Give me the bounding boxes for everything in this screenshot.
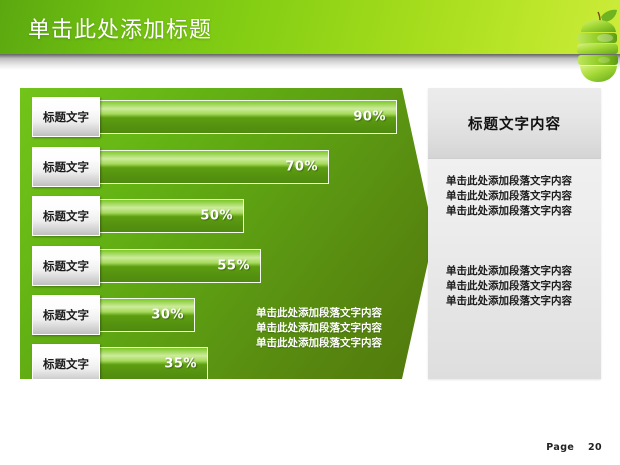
text-line: 单击此处添加段落文字内容 bbox=[446, 174, 596, 189]
bar-track[interactable]: 55% bbox=[81, 249, 261, 283]
bar-category-label[interactable]: 标题文字 bbox=[32, 147, 100, 187]
right-panel-text-block-1[interactable]: 单击此处添加段落文字内容 单击此处添加段落文字内容 单击此处添加段落文字内容 bbox=[446, 174, 596, 219]
text-line: 单击此处添加段落文字内容 bbox=[446, 264, 596, 279]
text-line: 单击此处添加段落文字内容 bbox=[446, 279, 596, 294]
bar-category-label[interactable]: 标题文字 bbox=[32, 196, 100, 236]
footer: Page 20 bbox=[546, 442, 602, 453]
bar-value-label: 55% bbox=[217, 259, 250, 274]
bar-value-label: 30% bbox=[151, 308, 184, 323]
right-panel-heading[interactable]: 标题文字内容 bbox=[468, 113, 561, 134]
bar-category-label[interactable]: 标题文字 bbox=[32, 295, 100, 335]
note-line: 单击此处添加段落文字内容 bbox=[256, 321, 382, 336]
bar-category-label[interactable]: 标题文字 bbox=[32, 97, 100, 137]
bar-track[interactable]: 50% bbox=[81, 199, 244, 233]
text-line: 单击此处添加段落文字内容 bbox=[446, 204, 596, 219]
bar-value-label: 35% bbox=[164, 357, 197, 372]
bar-track[interactable]: 35% bbox=[81, 347, 208, 381]
right-panel-header: 标题文字内容 bbox=[428, 88, 601, 159]
bar-category-label[interactable]: 标题文字 bbox=[32, 344, 100, 384]
bar-value-label: 90% bbox=[353, 110, 386, 125]
page-title[interactable]: 单击此处添加标题 bbox=[28, 12, 212, 44]
right-content-panel: 标题文字内容 单击此处添加段落文字内容 单击此处添加段落文字内容 单击此处添加段… bbox=[428, 88, 601, 379]
bar-track[interactable]: 90% bbox=[81, 100, 397, 134]
bar-track[interactable]: 70% bbox=[81, 150, 329, 184]
green-panel-note[interactable]: 单击此处添加段落文字内容 单击此处添加段落文字内容 单击此处添加段落文字内容 bbox=[256, 306, 382, 351]
header-shadow-edge bbox=[0, 54, 620, 58]
bar-value-label: 70% bbox=[285, 160, 318, 175]
bar-category-label[interactable]: 标题文字 bbox=[32, 246, 100, 286]
note-line: 单击此处添加段落文字内容 bbox=[256, 306, 382, 321]
text-line: 单击此处添加段落文字内容 bbox=[446, 189, 596, 204]
sliced-green-apple-icon bbox=[571, 8, 619, 86]
bar-value-label: 50% bbox=[200, 209, 233, 224]
right-panel-text-block-2[interactable]: 单击此处添加段落文字内容 单击此处添加段落文字内容 单击此处添加段落文字内容 bbox=[446, 264, 596, 309]
page-label: Page bbox=[546, 442, 574, 453]
page-number: 20 bbox=[588, 442, 602, 453]
text-line: 单击此处添加段落文字内容 bbox=[446, 294, 596, 309]
note-line: 单击此处添加段落文字内容 bbox=[256, 336, 382, 351]
slide-canvas: 单击此处添加标题 90% bbox=[0, 0, 620, 465]
